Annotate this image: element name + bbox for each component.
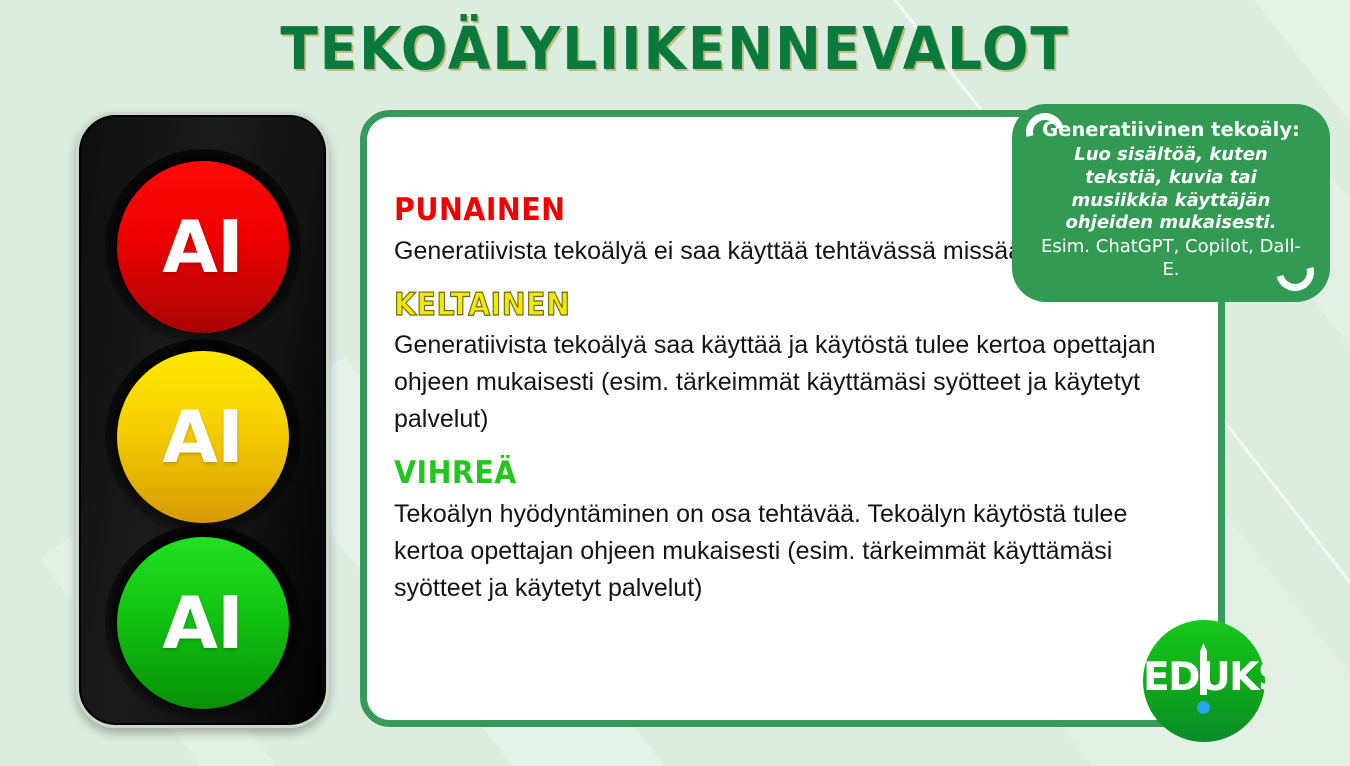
eduks-logo: EDUKS <box>1143 620 1265 742</box>
traffic-lamp-green-label: AI <box>162 587 243 659</box>
slide-canvas: TEKOÄLYLIIKENNEVALOT AI AI AI PUNAINEN G… <box>0 0 1350 766</box>
traffic-lamp-yellow-label: AI <box>162 401 243 473</box>
eduks-logo-dot-icon <box>1197 701 1210 714</box>
rule-heading-green: VIHREÄ <box>394 456 1115 492</box>
traffic-light-slot-green: AI <box>105 525 301 721</box>
traffic-lamp-red: AI <box>117 161 289 333</box>
generative-ai-callout: Generatiivinen tekoäly: Luo sisältöä, ku… <box>1012 104 1330 302</box>
rule-heading-red: PUNAINEN <box>394 193 1115 229</box>
slide-title: TEKOÄLYLIIKENNEVALOT <box>47 14 1303 83</box>
eduks-logo-exclamation-icon <box>1200 643 1207 695</box>
rule-text-yellow: Generatiivista tekoälyä saa käyttää ja k… <box>394 327 1178 438</box>
callout-title: Generatiivinen tekoäly: <box>1034 118 1308 142</box>
callout-description: Luo sisältöä, kuten tekstiä, kuvia tai m… <box>1034 144 1308 235</box>
traffic-light-slot-yellow: AI <box>105 339 301 535</box>
traffic-light-slot-red: AI <box>105 149 301 345</box>
traffic-lamp-green: AI <box>117 537 289 709</box>
rule-section-yellow: KELTAINEN Generatiivista tekoälyä saa kä… <box>394 288 1178 439</box>
rule-text-green: Tekoälyn hyödyntäminen on osa tehtävää. … <box>394 496 1178 607</box>
rule-heading-yellow: KELTAINEN <box>394 288 1115 324</box>
traffic-lamp-red-label: AI <box>162 211 243 283</box>
callout-examples: Esim. ChatGPT, Copilot, Dall-E. <box>1034 236 1308 281</box>
traffic-lamp-yellow: AI <box>117 351 289 523</box>
traffic-light-graphic: AI AI AI <box>76 112 329 728</box>
rule-section-green: VIHREÄ Tekoälyn hyödyntäminen on osa teh… <box>394 456 1178 607</box>
